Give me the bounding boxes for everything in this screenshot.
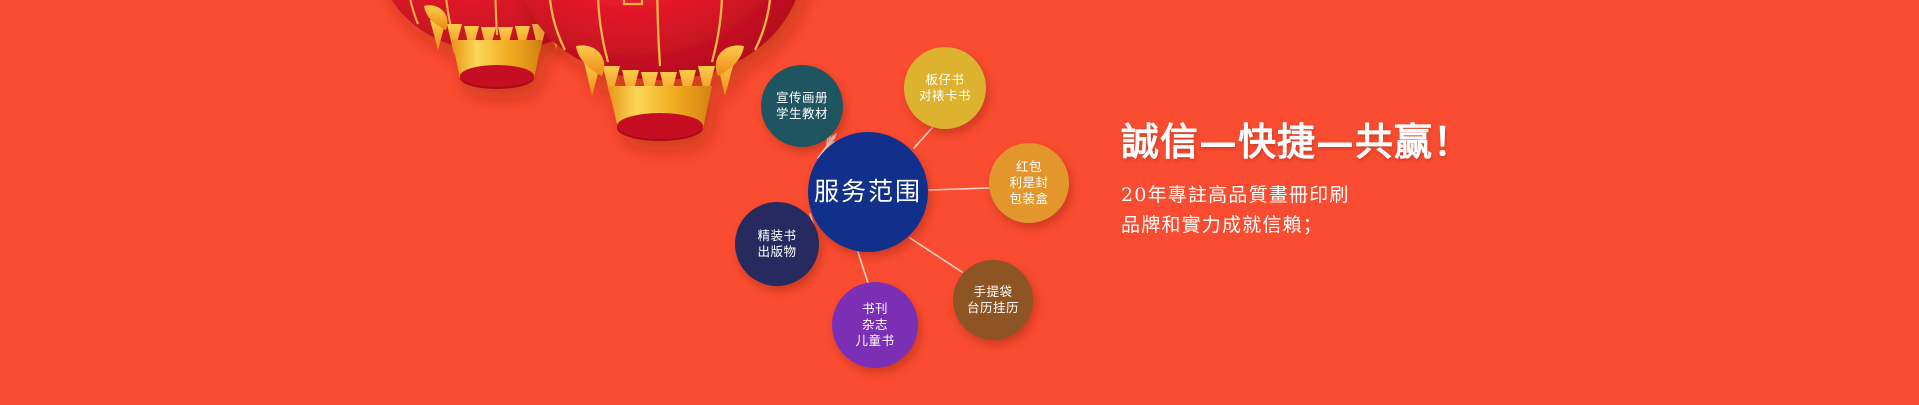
node-brown-line-1: 手提袋 (973, 284, 1012, 300)
node-yellow-line-1: 板仔书 (925, 72, 964, 88)
node-purple-line-1: 书刊 (862, 301, 888, 317)
slogan-line-1: 20年專註高品質畫冊印刷 (1121, 180, 1681, 211)
node-orange-line-1: 红包 (1016, 159, 1042, 175)
diagram-node-brown[interactable]: 手提袋 台历挂历 (953, 260, 1033, 340)
node-purple-line-2: 杂志 (862, 317, 888, 333)
node-brown-line-2: 台历挂历 (967, 300, 1019, 316)
promo-banner: 宣传画册 学生教材 板仔书 对裱卡书 红包 利是封 包装盒 手提袋 台历挂历 书… (0, 0, 1919, 405)
node-teal-line-1: 宣传画册 (776, 90, 828, 106)
node-navy-line-2: 出版物 (757, 244, 796, 260)
diagram-node-navy[interactable]: 精装书 出版物 (735, 202, 819, 286)
slogan-line-2: 品牌和實力成就信賴； (1121, 210, 1681, 241)
slogan-title: 誠信—快捷—共赢！ (1121, 118, 1681, 166)
diagram-node-yellow[interactable]: 板仔书 对裱卡书 (904, 47, 986, 129)
diagram-node-teal[interactable]: 宣传画册 学生教材 (761, 65, 843, 147)
slogan-block: 誠信—快捷—共赢！ 20年專註高品質畫冊印刷 品牌和實力成就信賴； (1121, 118, 1681, 241)
diagram-node-purple[interactable]: 书刊 杂志 儿童书 (832, 282, 918, 368)
node-orange-line-3: 包装盒 (1009, 191, 1048, 207)
node-orange-line-2: 利是封 (1009, 175, 1048, 191)
node-center-label: 服务范围 (814, 176, 922, 209)
diagram-node-center[interactable]: 服务范围 (808, 132, 928, 252)
diagram-node-orange[interactable]: 红包 利是封 包装盒 (989, 143, 1069, 223)
node-navy-line-1: 精装书 (757, 228, 796, 244)
node-yellow-line-2: 对裱卡书 (919, 88, 971, 104)
node-teal-line-2: 学生教材 (776, 106, 828, 122)
node-purple-line-3: 儿童书 (855, 333, 894, 349)
